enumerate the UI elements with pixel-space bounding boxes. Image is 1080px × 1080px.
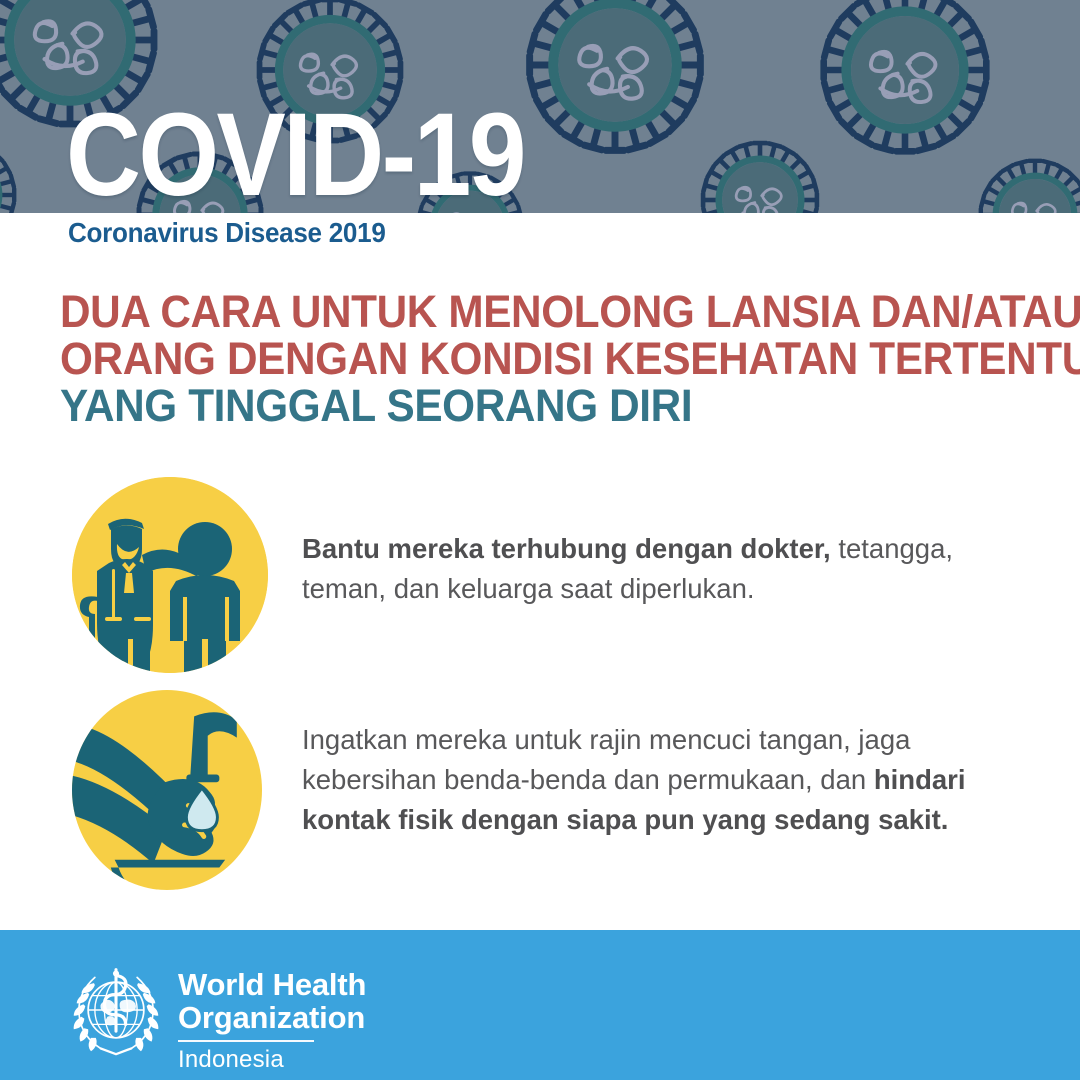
who-logotype: World Health Organization Indonesia (178, 968, 578, 1073)
who-org-line-1: World Health (178, 968, 578, 1001)
tip-1-bold: Bantu mereka terhubung dengan dokter, (302, 533, 831, 564)
tip-1-text: Bantu mereka terhubung dengan dokter, te… (302, 529, 1014, 609)
tip-2-regular: Ingatkan mereka untuk rajin mencuci tang… (302, 724, 910, 795)
headline-line-1: DUA CARA UNTUK MENOLONG LANSIA DAN/ATAU (60, 288, 981, 335)
page-title: COVID-19 (66, 96, 524, 213)
who-org-line-2: Organization (178, 1001, 578, 1034)
tip-2-text: Ingatkan mereka untuk rajin mencuci tang… (302, 720, 1014, 840)
page-subtitle: Coronavirus Disease 2019 (68, 218, 386, 248)
elderly-care-badge (72, 477, 268, 673)
header-banner: COVID-19 (0, 0, 1080, 213)
headline-line-2: ORANG DENGAN KONDISI KESEHATAN TERTENTU (60, 335, 981, 382)
headline-line-3: YANG TINGGAL SEORANG DIRI (60, 382, 981, 429)
who-emblem-icon (68, 962, 164, 1058)
who-country-label: Indonesia (178, 1047, 578, 1073)
covid-infographic-poster: COVID-19 Coronavirus Disease 2019 DUA CA… (0, 0, 1080, 1080)
handwashing-icon (72, 690, 262, 890)
headline-block: DUA CARA UNTUK MENOLONG LANSIA DAN/ATAU … (60, 288, 1040, 429)
who-divider (178, 1040, 314, 1042)
elderly-care-icon (72, 477, 268, 673)
handwashing-badge (72, 690, 262, 890)
